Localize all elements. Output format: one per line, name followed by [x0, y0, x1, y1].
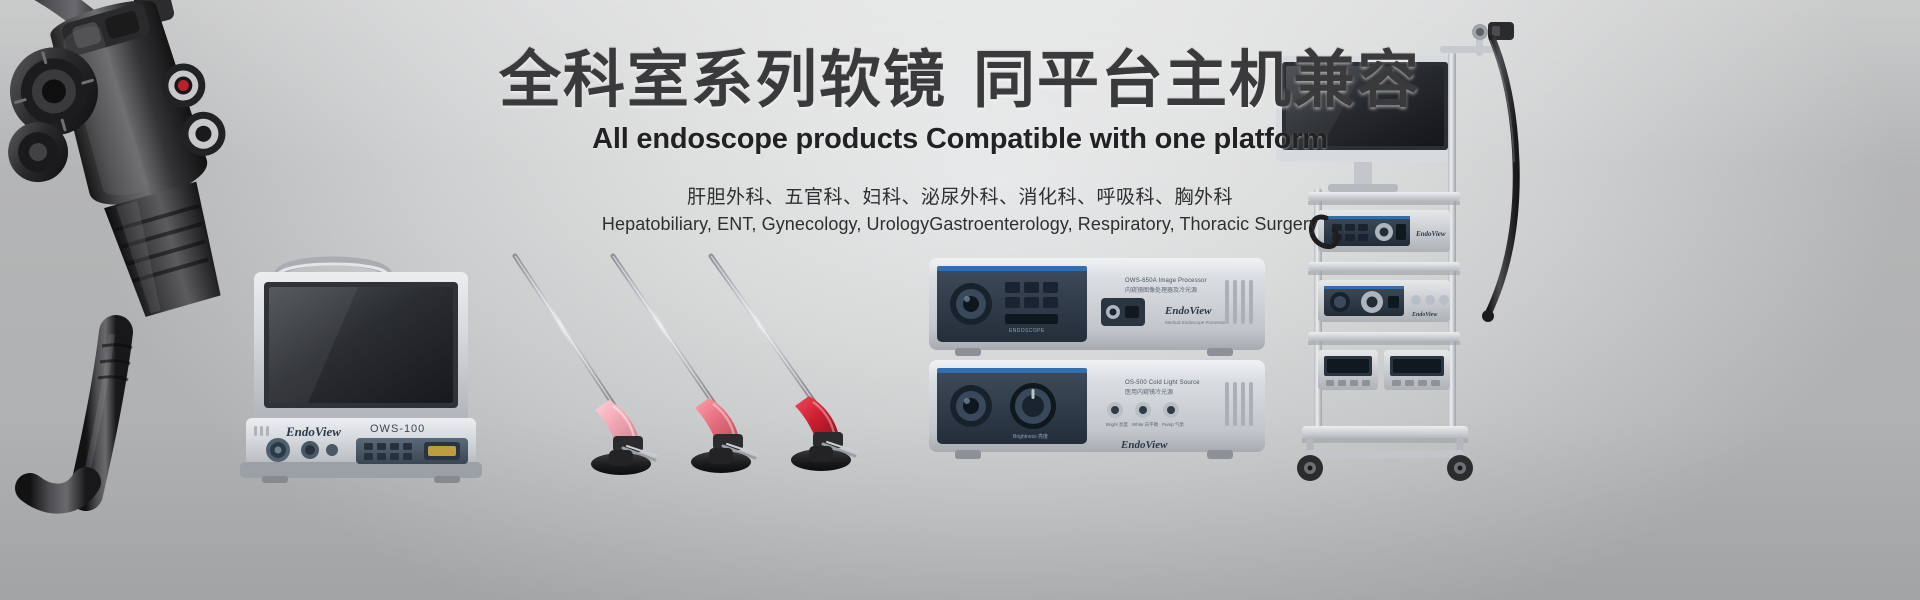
svg-text:EndoView: EndoView [285, 424, 341, 439]
headline-part-1: 全科室系列软镜 [499, 46, 947, 115]
banner-subtitle: All endoscope products Compatible with o… [0, 123, 1920, 156]
svg-text:ENDOSCOPE: ENDOSCOPE [1009, 328, 1045, 334]
stacked-processor-units: ENDOSCOPE OWS-650A Image Processor 内窥镜图像… [925, 252, 1270, 467]
rigid-endoscopes-group [505, 250, 875, 485]
svg-text:OWS-100: OWS-100 [370, 423, 425, 435]
cart-device-2: EndoView [1318, 280, 1450, 322]
svg-text:Medical Endoscope Processor: Medical Endoscope Processor [1165, 320, 1226, 325]
page-title: 全科室系列软镜同平台主机兼容 [0, 44, 1920, 117]
svg-text:EndoView: EndoView [1411, 312, 1438, 318]
svg-text:EndoView: EndoView [1120, 439, 1168, 451]
banner-text-block: 全科室系列软镜同平台主机兼容 All endoscope products Co… [0, 44, 1920, 235]
svg-text:Brightness 亮度: Brightness 亮度 [1013, 433, 1048, 440]
svg-text:White 白平衡: White 白平衡 [1132, 421, 1159, 428]
departments-english: Hepatobiliary, ENT, Gynecology, UrologyG… [0, 214, 1920, 235]
svg-text:OS-500 Cold Light Source: OS-500 Cold Light Source [1125, 380, 1200, 386]
svg-text:医用内窥镜冷光源: 医用内窥镜冷光源 [1125, 388, 1173, 396]
cart-base [1302, 426, 1468, 458]
cart-wheels [1297, 455, 1473, 481]
svg-text:内窥镜图像处理器及冷光源: 内窥镜图像处理器及冷光源 [1125, 286, 1197, 294]
svg-text:Pump 气泵: Pump 气泵 [1162, 421, 1185, 427]
svg-text:OWS-650A Image Processor: OWS-650A Image Processor [1125, 278, 1207, 284]
departments-chinese: 肝胆外科、五官科、妇科、泌尿外科、消化科、呼吸科、胸外科 [0, 182, 1920, 209]
processor-bottom: Brightness 亮度 OS-500 Cold Light Source 医… [929, 360, 1265, 459]
cart-device-3a [1318, 350, 1378, 390]
product-banner: 全科室系列软镜同平台主机兼容 All endoscope products Co… [0, 0, 1920, 600]
cart-shelf-2 [1308, 262, 1460, 275]
headline-part-2: 同平台主机兼容 [973, 46, 1421, 115]
processor-top: ENDOSCOPE OWS-650A Image Processor 内窥镜图像… [929, 258, 1265, 356]
cart-shelf-3 [1308, 332, 1460, 345]
svg-text:Bright 亮度: Bright 亮度 [1106, 421, 1129, 428]
cart-device-3b [1384, 350, 1450, 390]
svg-text:EndoView: EndoView [1164, 305, 1212, 317]
